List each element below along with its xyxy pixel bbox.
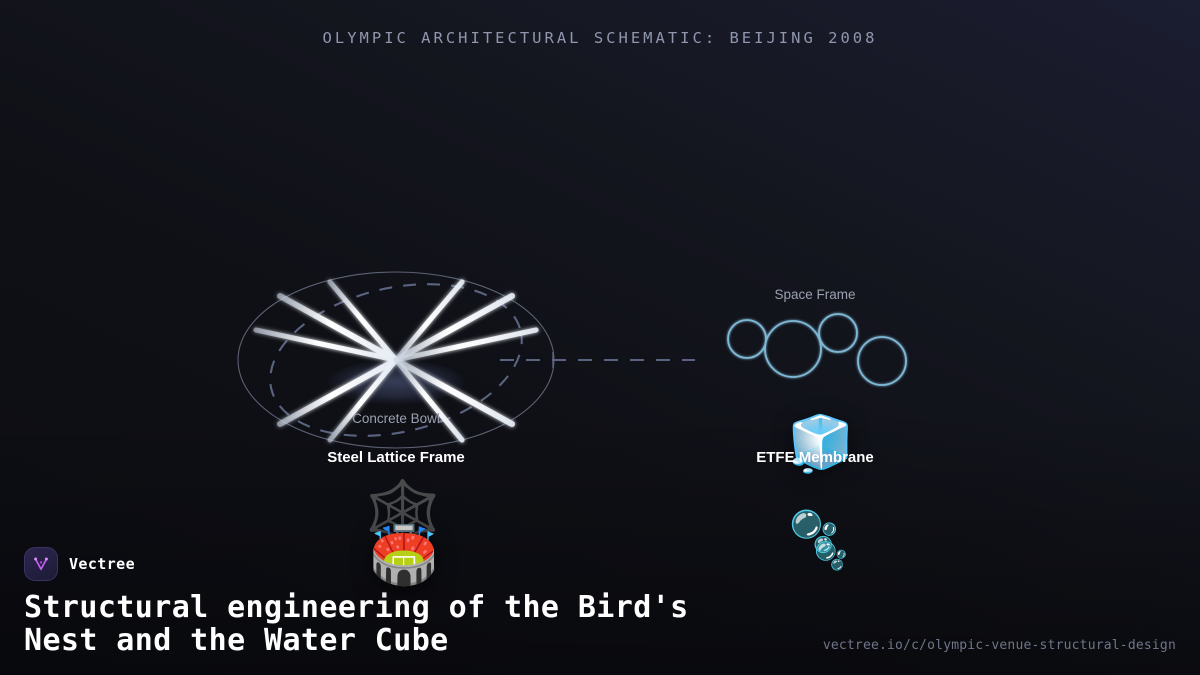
diagram-area: 🕸️ 🏟️ 🧊 🫧 🫧	[0, 190, 1200, 490]
footer-url: vectree.io/c/olympic-venue-structural-de…	[823, 638, 1176, 653]
space-frame-label: Space Frame	[715, 287, 915, 302]
vectree-glyph-icon	[31, 554, 51, 574]
schematic-page: OLYMPIC ARCHITECTURAL SCHEMATIC: BEIJING…	[0, 0, 1200, 675]
brand-row: Vectree	[24, 547, 1176, 581]
bubble-outline	[858, 337, 906, 385]
bubbles-icon-small: 🫧	[814, 543, 848, 570]
schematic-title: OLYMPIC ARCHITECTURAL SCHEMATIC: BEIJING…	[0, 29, 1200, 47]
bubble-outline	[728, 320, 766, 358]
diagram-vector-layer	[0, 190, 1200, 490]
vectree-logo	[24, 547, 58, 581]
etfe-bubble-outline-group	[728, 314, 906, 385]
steel-beam	[396, 296, 512, 360]
stadium-icon: 🏟️	[369, 528, 439, 584]
steel-lattice-frame-label: Steel Lattice Frame	[296, 449, 496, 466]
footer: Vectree Structural engineering of the Bi…	[0, 547, 1200, 675]
bubble-outline	[819, 314, 857, 352]
steel-beam	[280, 296, 396, 360]
headline: Structural engineering of the Bird's Nes…	[24, 592, 864, 657]
brand-name: Vectree	[69, 555, 135, 573]
bubble-outline	[765, 321, 821, 377]
etfe-membrane-label: ETFE Membrane	[715, 449, 915, 466]
concrete-bowl-label: Concrete Bowl	[296, 411, 496, 426]
